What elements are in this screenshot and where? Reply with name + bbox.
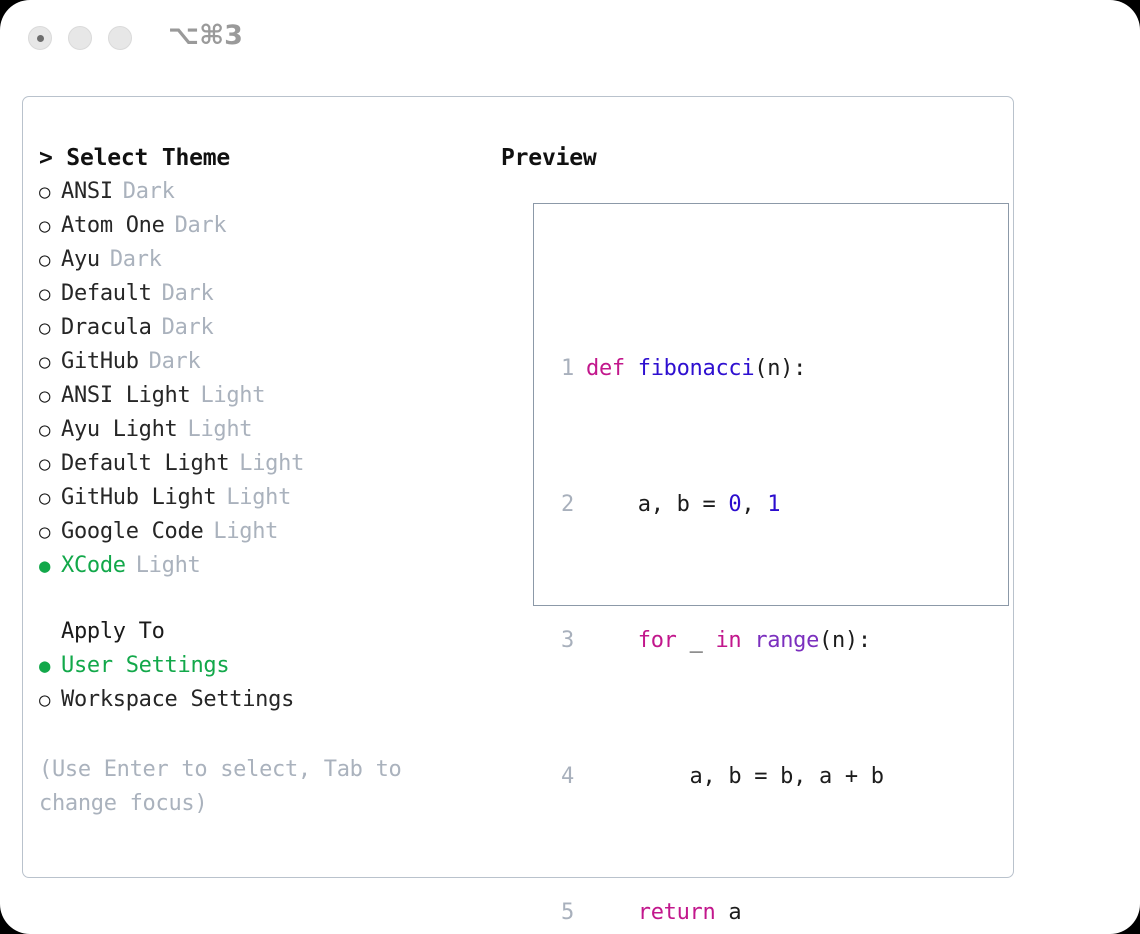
theme-name: Dracula: [61, 311, 152, 345]
code-token: [586, 628, 638, 653]
radio-icon: ○: [39, 311, 61, 345]
window-controls: [28, 26, 132, 50]
code-line: 2 a, b = 0, 1: [548, 488, 910, 522]
theme-name: GitHub: [61, 345, 139, 379]
preview-code: 1def fibonacci(n): 2 a, b = 0, 1 3 for _…: [548, 250, 910, 934]
preview-title: Preview: [501, 141, 1001, 175]
theme-list-item[interactable]: ○ Ayu Dark: [39, 243, 479, 277]
radio-icon: ○: [39, 413, 61, 447]
theme-list-item[interactable]: ○ Default Light Light: [39, 447, 479, 481]
preview-column: Preview 1def fibonacci(n): 2 a, b = 0, 1…: [501, 141, 1001, 175]
theme-list-item[interactable]: ○ ANSI Light Light: [39, 379, 479, 413]
line-number: 5: [548, 896, 574, 930]
apply-to-title: Apply To: [39, 615, 479, 649]
theme-variant: Light: [188, 413, 253, 447]
theme-variant: Light: [136, 549, 201, 583]
line-number: 3: [548, 624, 574, 658]
window-dot-active-inner: [37, 35, 44, 42]
theme-name: GitHub Light: [61, 481, 216, 515]
theme-list-item[interactable]: ○ Ayu Light Light: [39, 413, 479, 447]
theme-name: Google Code: [61, 515, 203, 549]
code-line: 3 for _ in range(n):: [548, 624, 910, 658]
theme-variant: Dark: [110, 243, 162, 277]
code-token: (n):: [754, 356, 806, 381]
radio-icon: ○: [39, 683, 61, 717]
theme-variant: Dark: [162, 311, 214, 345]
theme-variant: Dark: [162, 277, 214, 311]
radio-icon: ○: [39, 481, 61, 515]
theme-selector-column: > Select Theme ○ ANSI Dark ○ Atom One Da…: [39, 141, 479, 821]
code-token: for: [638, 628, 677, 653]
code-token: a, b =: [586, 492, 728, 517]
preview-box: 1def fibonacci(n): 2 a, b = 0, 1 3 for _…: [533, 203, 1009, 606]
apply-to-label: User Settings: [61, 649, 229, 683]
code-token: range: [754, 628, 819, 653]
title-bar: ⌥⌘3: [0, 0, 1140, 78]
theme-list: ○ ANSI Dark ○ Atom One Dark ○ Ayu Dark ○…: [39, 175, 479, 583]
code-token: in: [715, 628, 741, 653]
radio-icon: ○: [39, 345, 61, 379]
radio-icon: ○: [39, 379, 61, 413]
main-panel: > Select Theme ○ ANSI Dark ○ Atom One Da…: [22, 96, 1014, 878]
theme-name: ANSI: [61, 175, 113, 209]
theme-name: Atom One: [61, 209, 165, 243]
code-line: 1def fibonacci(n):: [548, 352, 910, 386]
theme-variant: Dark: [123, 175, 175, 209]
theme-list-item[interactable]: ○ Default Dark: [39, 277, 479, 311]
app-window: ⌥⌘3 > Select Theme ○ ANSI Dark ○ Atom On…: [0, 0, 1140, 934]
keyboard-shortcut-label: ⌥⌘3: [168, 20, 243, 51]
radio-icon: ○: [39, 243, 61, 277]
theme-name: Default Light: [61, 447, 229, 481]
window-dot-second[interactable]: [68, 26, 92, 50]
line-number: 2: [548, 488, 574, 522]
keyboard-hint-text: (Use Enter to select, Tab to change focu…: [39, 753, 449, 821]
line-number: 1: [548, 352, 574, 386]
apply-to-item-workspace-settings[interactable]: ○ Workspace Settings: [39, 683, 479, 717]
apply-to-list: ● User Settings ○ Workspace Settings: [39, 649, 479, 717]
code-token: [741, 628, 754, 653]
code-token: return: [638, 900, 716, 925]
theme-list-item-selected[interactable]: ● XCode Light: [39, 549, 479, 583]
theme-list-item[interactable]: ○ Google Code Light: [39, 515, 479, 549]
radio-selected-icon: ●: [39, 549, 61, 583]
code-token: fibonacci: [638, 356, 755, 381]
theme-list-item[interactable]: ○ Dracula Dark: [39, 311, 479, 345]
theme-variant: Light: [226, 481, 291, 515]
theme-variant: Light: [239, 447, 304, 481]
theme-name: ANSI Light: [61, 379, 190, 413]
code-token: 0: [728, 492, 741, 517]
apply-to-label: Workspace Settings: [61, 683, 294, 717]
code-token: _: [677, 628, 716, 653]
theme-list-item[interactable]: ○ Atom One Dark: [39, 209, 479, 243]
theme-list-item[interactable]: ○ GitHub Dark: [39, 345, 479, 379]
theme-variant: Light: [213, 515, 278, 549]
code-line: 5 return a: [548, 896, 910, 930]
theme-name: Ayu Light: [61, 413, 178, 447]
line-number: 4: [548, 760, 574, 794]
radio-icon: ○: [39, 175, 61, 209]
theme-name: Ayu: [61, 243, 100, 277]
radio-icon: ○: [39, 209, 61, 243]
radio-icon: ○: [39, 277, 61, 311]
theme-name: Default: [61, 277, 152, 311]
code-token: ,: [741, 492, 767, 517]
code-token: a, b = b, a + b: [586, 764, 884, 789]
window-dot-active[interactable]: [28, 26, 52, 50]
apply-to-item-user-settings[interactable]: ● User Settings: [39, 649, 479, 683]
code-token: (n):: [819, 628, 871, 653]
code-line: 4 a, b = b, a + b: [548, 760, 910, 794]
theme-variant: Light: [200, 379, 265, 413]
code-token: [586, 900, 638, 925]
theme-list-item[interactable]: ○ GitHub Light Light: [39, 481, 479, 515]
code-token: 1: [767, 492, 780, 517]
theme-variant: Dark: [175, 209, 227, 243]
section-spacer: [39, 583, 479, 615]
code-token: def: [586, 356, 638, 381]
radio-selected-icon: ●: [39, 649, 61, 683]
theme-name: XCode: [61, 549, 126, 583]
window-dot-third[interactable]: [108, 26, 132, 50]
page-title: > Select Theme: [39, 141, 479, 175]
code-token: a: [715, 900, 741, 925]
theme-variant: Dark: [149, 345, 201, 379]
radio-icon: ○: [39, 447, 61, 481]
radio-icon: ○: [39, 515, 61, 549]
theme-list-item[interactable]: ○ ANSI Dark: [39, 175, 479, 209]
